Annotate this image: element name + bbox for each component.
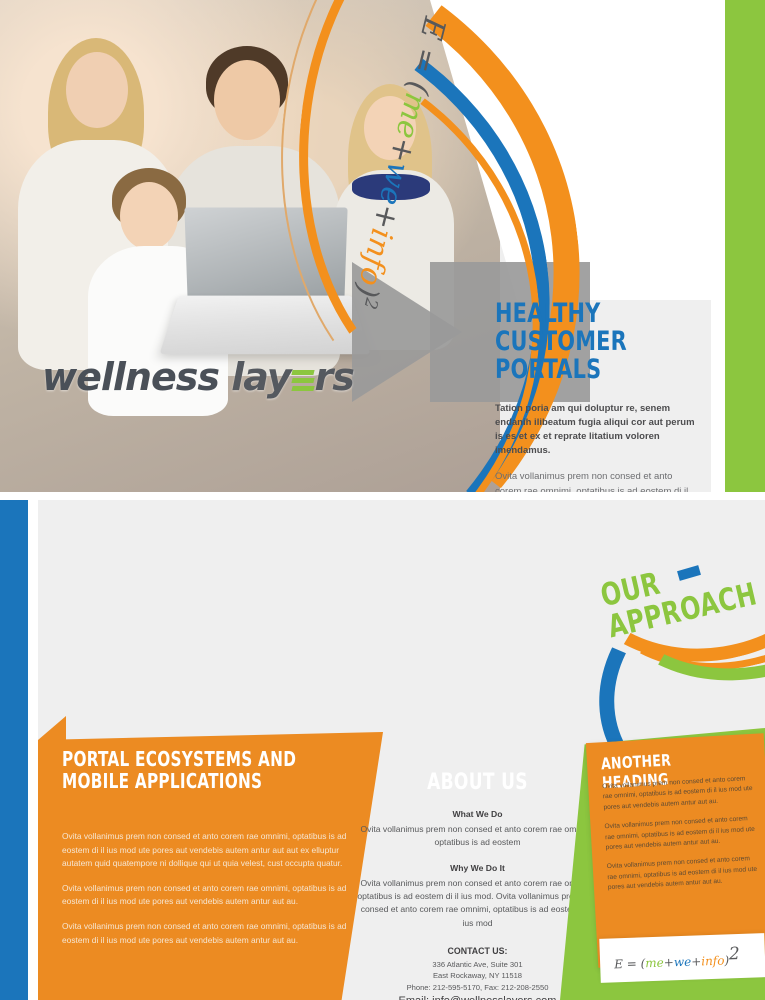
another-heading-card: ANOTHER HEADING Ovita vollanimus prem no… xyxy=(586,733,765,968)
logo-word-rs: rs xyxy=(315,355,354,399)
top-panel-white-gutter xyxy=(711,0,725,492)
another-paragraph: Ovita vollanimus prem non consed et anto… xyxy=(604,814,758,854)
top-panel-green-bar xyxy=(725,0,765,492)
bottom-panel: Your products & services Support your bu… xyxy=(0,500,765,1000)
equation-we: we xyxy=(674,955,692,970)
logo-e-bars-icon xyxy=(292,367,314,393)
another-heading-body: Ovita vollanimus prem non consed et anto… xyxy=(602,774,760,903)
top-panel-title: HEALTHY CUSTOMER PORTALS xyxy=(495,300,667,384)
top-panel-lead: Tation poria am qui doluptur re, senem e… xyxy=(495,402,695,458)
orange-block-notch xyxy=(38,700,66,740)
about-us-section: ABOUT US What We Do Ovita vollanimus pre… xyxy=(355,770,600,1000)
about-subheading-what: What We Do xyxy=(355,809,600,819)
equation-plus-2: + xyxy=(691,954,702,968)
top-panel-text: HEALTHY CUSTOMER PORTALS Tation poria am… xyxy=(495,300,695,492)
bottom-panel-blue-bar xyxy=(0,500,28,1000)
portal-paragraph: Ovita vollanimus prem non consed et anto… xyxy=(62,830,352,871)
bottom-equation-card: E = (me+we+info)2 xyxy=(599,933,765,983)
contact-heading: CONTACT US: xyxy=(355,946,600,956)
portal-heading: PORTAL ECOSYSTEMS AND MOBILE APPLICATION… xyxy=(62,748,317,793)
equation-exponent: 2 xyxy=(729,944,741,964)
equation-me: me xyxy=(645,956,664,971)
top-panel-content: E = (me+we+info)2 wellness layrs HEALTHY… xyxy=(0,0,711,492)
about-subheading-why: Why We Do It xyxy=(355,863,600,873)
brand-equation-bottom: E = (me+we+info)2 xyxy=(614,944,741,971)
equation-plus-1: + xyxy=(664,955,675,969)
logo-word-lay: lay xyxy=(231,355,290,399)
top-panel-body: Ovita vollanimus prem non consed et anto… xyxy=(495,470,695,492)
about-us-heading: ABOUT US xyxy=(372,770,583,795)
wellness-layers-logo: wellness layrs xyxy=(42,355,354,399)
top-panel: E = (me+we+info)2 wellness layrs HEALTHY… xyxy=(0,0,765,492)
portal-body: Ovita vollanimus prem non consed et anto… xyxy=(62,830,352,958)
portal-paragraph: Ovita vollanimus prem non consed et anto… xyxy=(62,920,352,947)
equation-info: info xyxy=(701,954,725,969)
brochure-page: E = (me+we+info)2 wellness layrs HEALTHY… xyxy=(0,0,765,1000)
about-paragraph-why: Ovita vollanimus prem non consed et anto… xyxy=(355,877,600,930)
portal-paragraph: Ovita vollanimus prem non consed et anto… xyxy=(62,882,352,909)
equation-prefix: E = ( xyxy=(614,956,646,971)
bottom-panel-white-gutter xyxy=(28,500,38,1000)
panel-gap xyxy=(0,492,765,500)
logo-word-wellness: wellness xyxy=(42,355,219,399)
another-paragraph: Ovita vollanimus prem non consed et anto… xyxy=(607,854,761,894)
about-paragraph-what: Ovita vollanimus prem non consed et anto… xyxy=(355,823,600,850)
